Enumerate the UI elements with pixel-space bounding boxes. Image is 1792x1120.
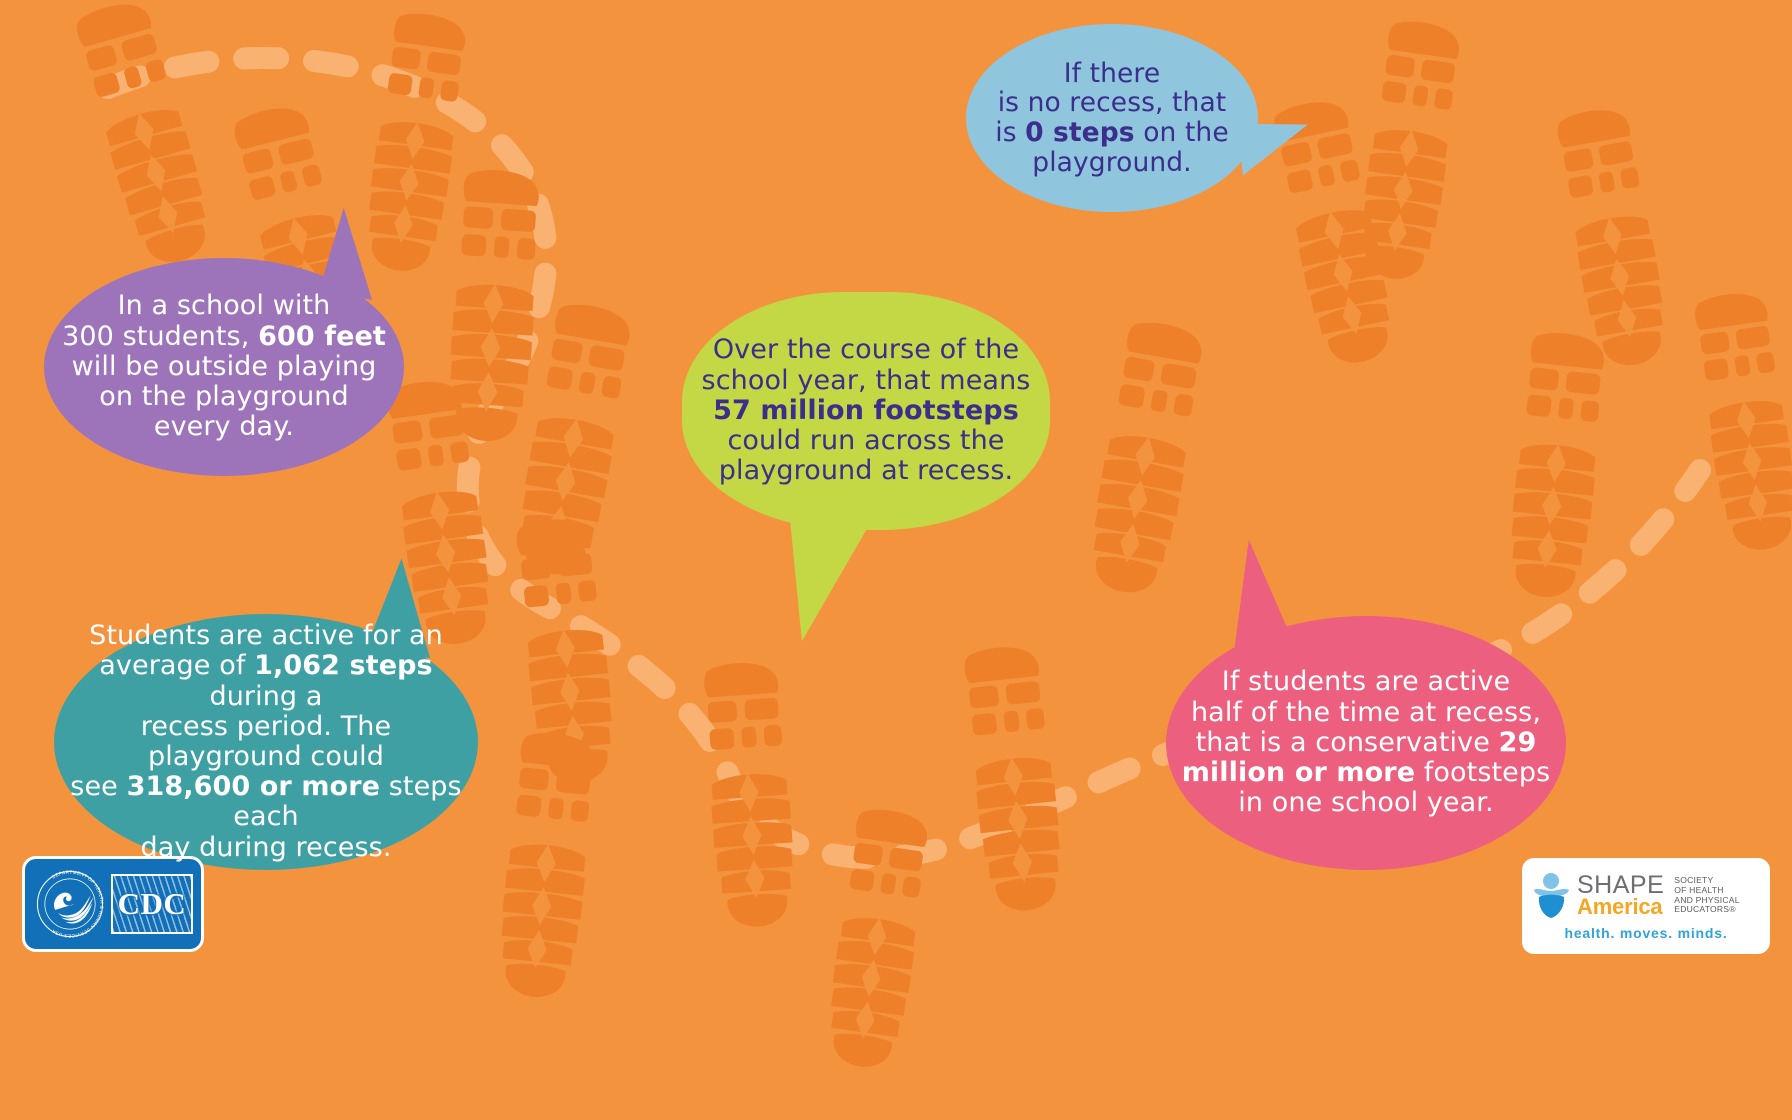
bubble-text: Students are active for anaverage of 1,0… bbox=[54, 621, 478, 863]
bubble-text: Over the course of theschool year, that … bbox=[696, 335, 1037, 486]
shape-person-icon bbox=[1532, 872, 1572, 920]
bubble-tail bbox=[786, 521, 870, 644]
america-word: America bbox=[1577, 897, 1664, 917]
background-decoration-layer bbox=[0, 0, 1792, 1120]
cdc-wordmark: CDC bbox=[118, 886, 187, 922]
bubble-text: If students are activehalf of the time a… bbox=[1176, 667, 1557, 818]
shape-subtitle-line: EDUCATORS® bbox=[1674, 905, 1739, 915]
cdc-logo: DEPARTMENT OF HEALTH & HUMAN SERVICES US… bbox=[22, 856, 204, 952]
shape-tagline: health. moves. minds. bbox=[1532, 925, 1760, 941]
shape-wordmark: SHAPE America bbox=[1577, 874, 1664, 917]
shape-subtitle: SOCIETY OF HEALTH AND PHYSICAL EDUCATORS… bbox=[1674, 876, 1739, 916]
speech-bubble-57-million: Over the course of theschool year, that … bbox=[682, 292, 1050, 530]
bubble-text: In a school with300 students, 600 feetwi… bbox=[56, 291, 392, 442]
bubble-tail bbox=[1237, 116, 1312, 175]
speech-bubble-no-recess: If thereis no recess, thatis 0 steps on … bbox=[966, 24, 1258, 212]
infographic-canvas: If thereis no recess, thatis 0 steps on … bbox=[0, 0, 1792, 1120]
hhs-seal-icon: DEPARTMENT OF HEALTH & HUMAN SERVICES US… bbox=[33, 867, 107, 941]
speech-bubble-1062-steps: Students are active for anaverage of 1,0… bbox=[54, 614, 478, 870]
speech-bubble-600-feet: In a school with300 students, 600 feetwi… bbox=[44, 258, 404, 476]
cdc-wordmark-box: CDC bbox=[111, 874, 193, 934]
speech-bubble-29-million: If students are activehalf of the time a… bbox=[1166, 616, 1566, 870]
shape-subtitle-line: OF HEALTH bbox=[1674, 886, 1739, 896]
shape-america-logo: SHAPE America SOCIETY OF HEALTH AND PHYS… bbox=[1522, 858, 1770, 954]
bubble-text: If thereis no recess, thatis 0 steps on … bbox=[989, 59, 1234, 178]
shape-logo-top-row: SHAPE America SOCIETY OF HEALTH AND PHYS… bbox=[1532, 872, 1760, 920]
